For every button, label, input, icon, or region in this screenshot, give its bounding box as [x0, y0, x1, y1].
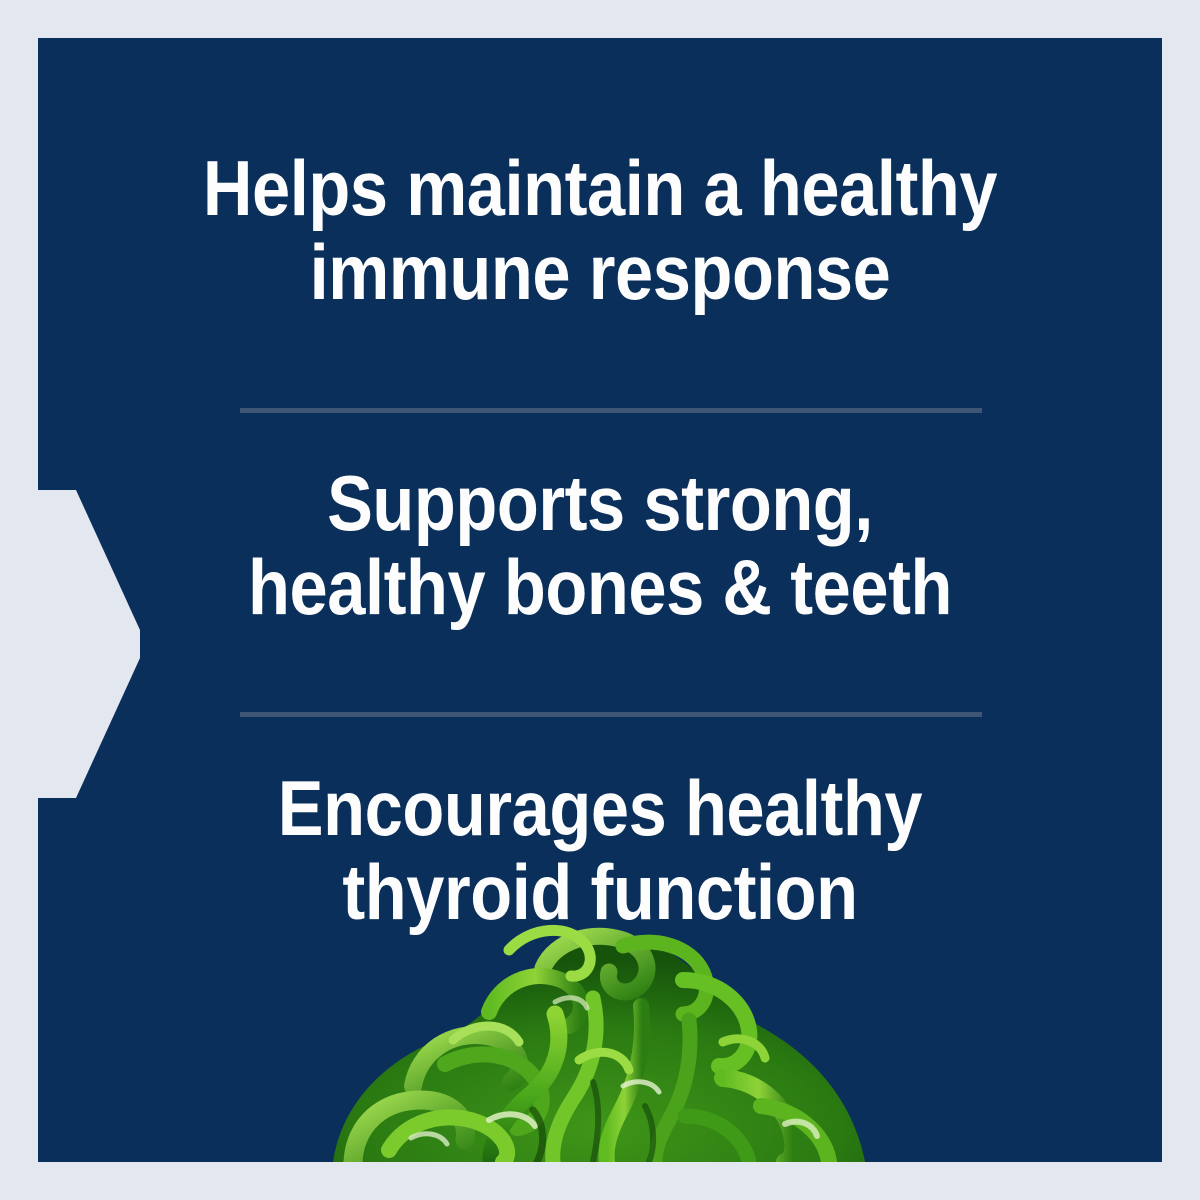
benefit-item-bones: Supports strong, healthy bones & teeth — [105, 461, 1094, 629]
seaweed-illustration — [293, 910, 903, 1162]
benefits-panel: Helps maintain a healthy immune response… — [38, 38, 1162, 1162]
seaweed-image — [293, 910, 903, 1162]
benefit-divider-1 — [240, 408, 982, 413]
benefit-divider-2 — [240, 712, 982, 717]
benefit-item-immune: Helps maintain a healthy immune response — [105, 146, 1094, 314]
promo-card: Helps maintain a healthy immune response… — [0, 0, 1200, 1200]
